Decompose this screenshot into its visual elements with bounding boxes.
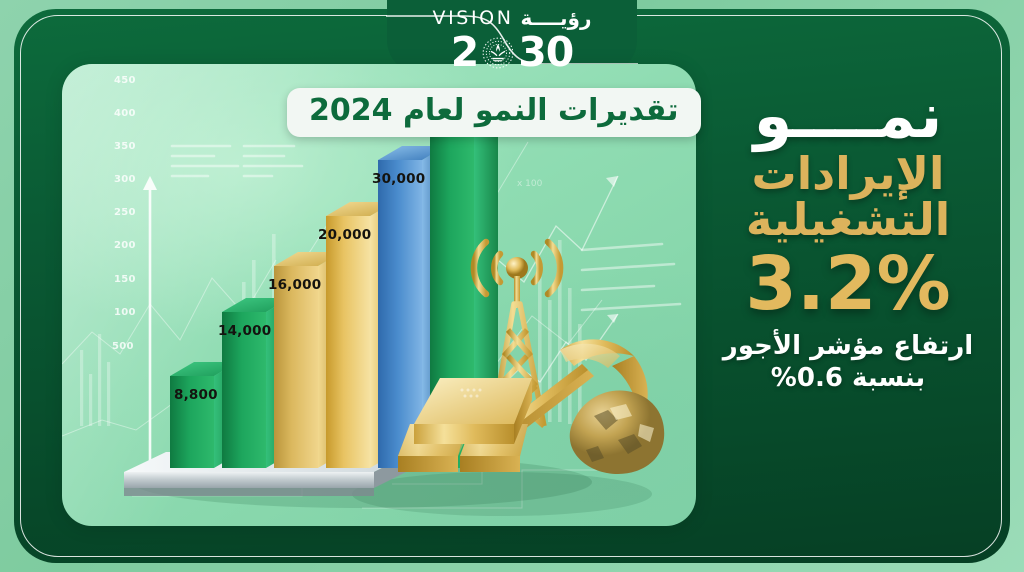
logo-year: 2 30 [402,32,622,73]
y-tick-2: 150 [114,274,136,285]
percent-value: 3.2% [702,247,994,321]
y-tick-0: 500 [112,341,134,352]
y-tick-1: 100 [114,307,136,318]
logo-vision-ar: رؤيــــة [521,8,592,28]
subtext-line-2: بنسبة 0.6% [702,362,994,395]
headline-panel: نمــــو الإيرادات التشغيلية 3.2% ارتفاع … [702,86,994,395]
bar-value-1: 8,800 [174,387,218,403]
bar-value-3: 16,000 [268,277,321,293]
y-axis [143,176,157,468]
y-tick-8: 450 [114,75,136,86]
y-tick-5: 300 [114,174,136,185]
y-tick-6: 350 [114,141,136,152]
bar-value-4: 20,000 [318,227,371,243]
logo-wordmark: VISION رؤيــــة [402,8,622,28]
saudi-vision-emblem-icon [480,35,516,71]
subtext-line-1: ارتفاع مؤشر الأجور [702,330,994,363]
title-banner: تقديرات النمو لعام 2024 [287,88,701,137]
gold-ore-rock-icon [570,390,664,474]
y-tick-3: 200 [114,240,136,251]
y-tick-7: 400 [114,108,136,119]
infographic-canvas: VISION رؤيــــة 2 [0,0,1024,572]
logo-digit-2: 2 [451,32,479,73]
bar-value-5: 30,000 [372,171,425,187]
y-tick-4: 250 [114,207,136,218]
headline-line-2: الإيرادات [702,151,994,197]
vision-2030-logo: VISION رؤيــــة 2 [402,8,622,73]
bar-value-2: 14,000 [218,323,271,339]
headline-line-1: نمــــو [702,86,994,147]
logo-vision-en: VISION [433,9,514,28]
logo-digit-30: 30 [518,32,573,73]
page-title: تقديرات النمو لعام 2024 [309,95,679,127]
headline-line-3: التشغيلية [702,197,994,243]
